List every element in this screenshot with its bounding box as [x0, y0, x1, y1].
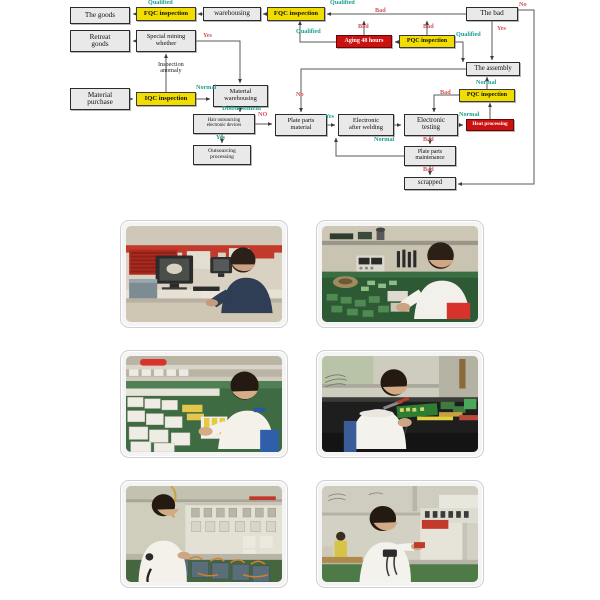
- flow-label-yes_hair: Yes: [216, 135, 225, 141]
- flow-label-normal_iqc: Normal: [196, 85, 216, 91]
- flow-node-fqc_1: FQC inspection: [136, 7, 196, 21]
- flow-node-fqc_2: FQC inspection: [267, 7, 325, 21]
- flow-node-the_assembly: The assembly: [466, 62, 520, 76]
- photo-cabinet-test: [316, 480, 484, 588]
- photo-gallery: [0, 208, 600, 600]
- flow-node-special_mining: Special mining whether: [136, 30, 196, 52]
- flow-node-elec_after_weld: Electronic after welding: [338, 114, 394, 136]
- flow-node-material_purchase: Material purchase: [70, 88, 130, 110]
- flow-label-bad_aging: Bad: [358, 24, 369, 30]
- flow-label-yes_special: Yes: [203, 33, 212, 39]
- photo-test-panel: [120, 480, 288, 588]
- flow-label-no_top_right: No: [519, 2, 527, 8]
- flow-label-normal_pqc2: Normal: [476, 80, 496, 86]
- photo-image: [126, 486, 282, 582]
- photo-assembly-line: [120, 350, 288, 458]
- photo-image: [126, 356, 282, 452]
- flow-node-material_wh: Material warehousing: [213, 85, 268, 107]
- flow-label-qualified_2: Qualified: [330, 0, 355, 6]
- flow-node-scrapped: scrapped: [404, 177, 456, 190]
- flow-node-hair_outsourcing: Hair outsourcing electronic devices: [193, 114, 255, 134]
- photo-soldering-board: [316, 350, 484, 458]
- flow-label-no_hair: NO: [258, 112, 267, 118]
- flow-node-warehousing: warehousing: [203, 7, 261, 21]
- flow-node-iqc_inspection: IQC inspection: [136, 92, 196, 106]
- flow-node-retreat_goods: Retreat goods: [70, 30, 130, 52]
- flow-node-outsourcing_proc: Outsourcing processing: [193, 145, 251, 165]
- flow-node-the_goods: The goods: [70, 7, 130, 24]
- flow-node-the_bad: The bad: [466, 7, 518, 21]
- process-flowchart: The goodsFQC inspectionwarehousingFQC in…: [0, 0, 600, 205]
- photo-image: [126, 226, 282, 322]
- flow-label-no_plate: No: [296, 92, 304, 98]
- flow-label-inspection_anom: Inspection anomaly: [158, 62, 184, 74]
- photo-image: [322, 226, 478, 322]
- flow-label-yes_plate: Yes: [325, 114, 334, 120]
- flow-node-pqc_2: PQC inspection: [459, 89, 515, 102]
- flow-label-normal_maint: Normal: [374, 137, 394, 143]
- flow-label-disbursement: Disbursement: [222, 106, 261, 113]
- flow-node-pqc_1: PQC inspection: [399, 35, 455, 48]
- photo-inspection-workstation: [120, 220, 288, 328]
- flow-node-heat_processing: Heat processing: [466, 119, 514, 131]
- flow-label-bad_testing: Bad: [423, 137, 434, 143]
- flow-label-yes_bad: Yes: [497, 26, 506, 32]
- flow-label-qualified_4: Qualified: [456, 32, 481, 38]
- flow-label-qualified_1: Qualified: [148, 0, 173, 6]
- photo-image: [322, 356, 478, 452]
- photo-electronics-bench: [316, 220, 484, 328]
- flow-label-bad_pqc2: Bad: [440, 90, 451, 96]
- flow-label-bad_scrapped: Bad: [423, 167, 434, 173]
- flow-label-bad_top: Bad: [375, 8, 386, 14]
- flow-node-plate_parts_mat: Plate parts material: [275, 114, 327, 136]
- photo-image: [322, 486, 478, 582]
- flow-node-plate_parts_maint: Plate parts maintenance: [404, 146, 456, 166]
- flow-label-normal_elec: Normal: [459, 112, 479, 118]
- flow-node-aging_48h: Aging 48 hours: [336, 35, 392, 48]
- flow-node-elec_testing: Electronic testing: [404, 114, 458, 136]
- flow-label-bad_pqc1: Bad: [423, 24, 434, 30]
- flow-label-qualified_3: Qualified: [296, 29, 321, 35]
